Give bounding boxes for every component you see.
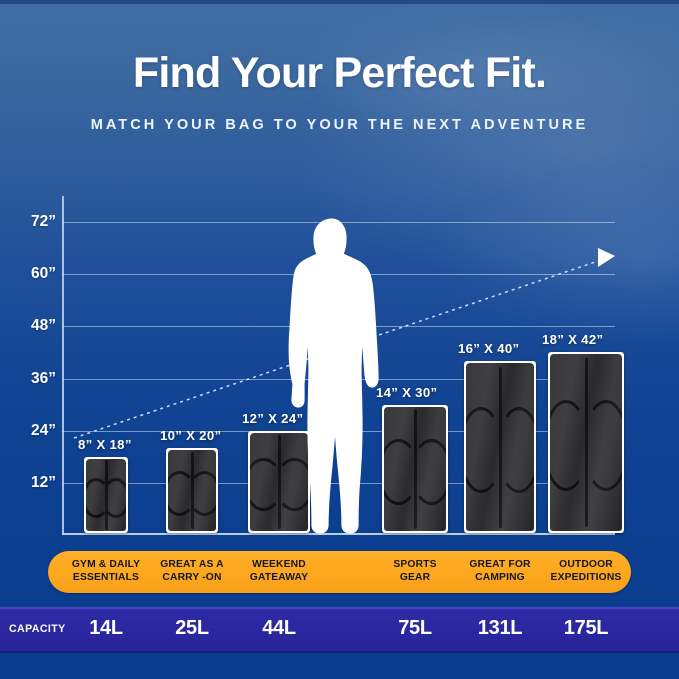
capacity-value: 14L — [61, 617, 151, 640]
bag-sheen — [466, 363, 534, 531]
bag-bar[interactable] — [464, 361, 536, 533]
bag-outline — [464, 361, 536, 533]
bag-outline — [382, 405, 448, 533]
capacity-band: CAPACITY 14L25L44L75L131L175L — [0, 607, 679, 653]
bag-sheen — [168, 450, 216, 531]
bag-sheen — [384, 407, 446, 531]
bag-bar[interactable] — [382, 405, 448, 533]
y-axis-tick-12: 12” — [16, 474, 56, 492]
y-axis-tick-48: 48” — [16, 317, 56, 335]
use-case-label: OUTDOOREXPEDITIONS — [531, 558, 641, 584]
bag-body — [168, 450, 216, 531]
page-subtitle: MATCH YOUR BAG TO YOUR THE NEXT ADVENTUR… — [0, 117, 679, 133]
bag-dimension-label: 8” X 18” — [78, 437, 132, 452]
infographic-poster: Find Your Perfect Fit. MATCH YOUR BAG TO… — [0, 0, 679, 679]
bag-body — [466, 363, 534, 531]
capacity-label: CAPACITY — [9, 623, 66, 635]
y-axis-tick-36: 36” — [16, 370, 56, 388]
bag-sheen — [86, 459, 126, 531]
use-case-line-2: EXPEDITIONS — [531, 571, 641, 584]
bag-outline — [166, 448, 218, 533]
bag-bar[interactable] — [548, 352, 624, 533]
bag-body — [86, 459, 126, 531]
use-case-line-2: GATEAWAY — [224, 571, 334, 584]
bag-sheen — [550, 354, 622, 531]
bag-body — [384, 407, 446, 531]
y-axis-tick-24: 24” — [16, 422, 56, 440]
capacity-value: 131L — [455, 617, 545, 640]
capacity-value: 75L — [370, 617, 460, 640]
use-case-label: WEEKENDGATEAWAY — [224, 558, 334, 584]
bag-dimension-label: 18” X 42” — [542, 332, 603, 347]
bag-body — [550, 354, 622, 531]
bag-bar[interactable] — [166, 448, 218, 533]
use-case-band: GYM & DAILYESSENTIALSGREAT AS ACARRY -ON… — [48, 551, 631, 593]
human-silhouette-icon — [284, 217, 388, 537]
bag-outline — [84, 457, 128, 533]
capacity-value: 44L — [234, 617, 324, 640]
use-case-line-1: OUTDOOR — [531, 558, 641, 571]
y-axis-tick-60: 60” — [16, 265, 56, 283]
bag-outline — [548, 352, 624, 533]
page-title: Find Your Perfect Fit. — [0, 52, 679, 95]
y-axis-tick-72: 72” — [16, 213, 56, 231]
bag-dimension-label: 16” X 40” — [458, 341, 519, 356]
bag-bar[interactable] — [84, 457, 128, 533]
capacity-value: 25L — [147, 617, 237, 640]
bag-dimension-label: 10” X 20” — [160, 428, 221, 443]
use-case-line-1: WEEKEND — [224, 558, 334, 571]
header: Find Your Perfect Fit. MATCH YOUR BAG TO… — [0, 52, 679, 133]
capacity-value: 175L — [541, 617, 631, 640]
y-axis-line — [62, 196, 64, 535]
